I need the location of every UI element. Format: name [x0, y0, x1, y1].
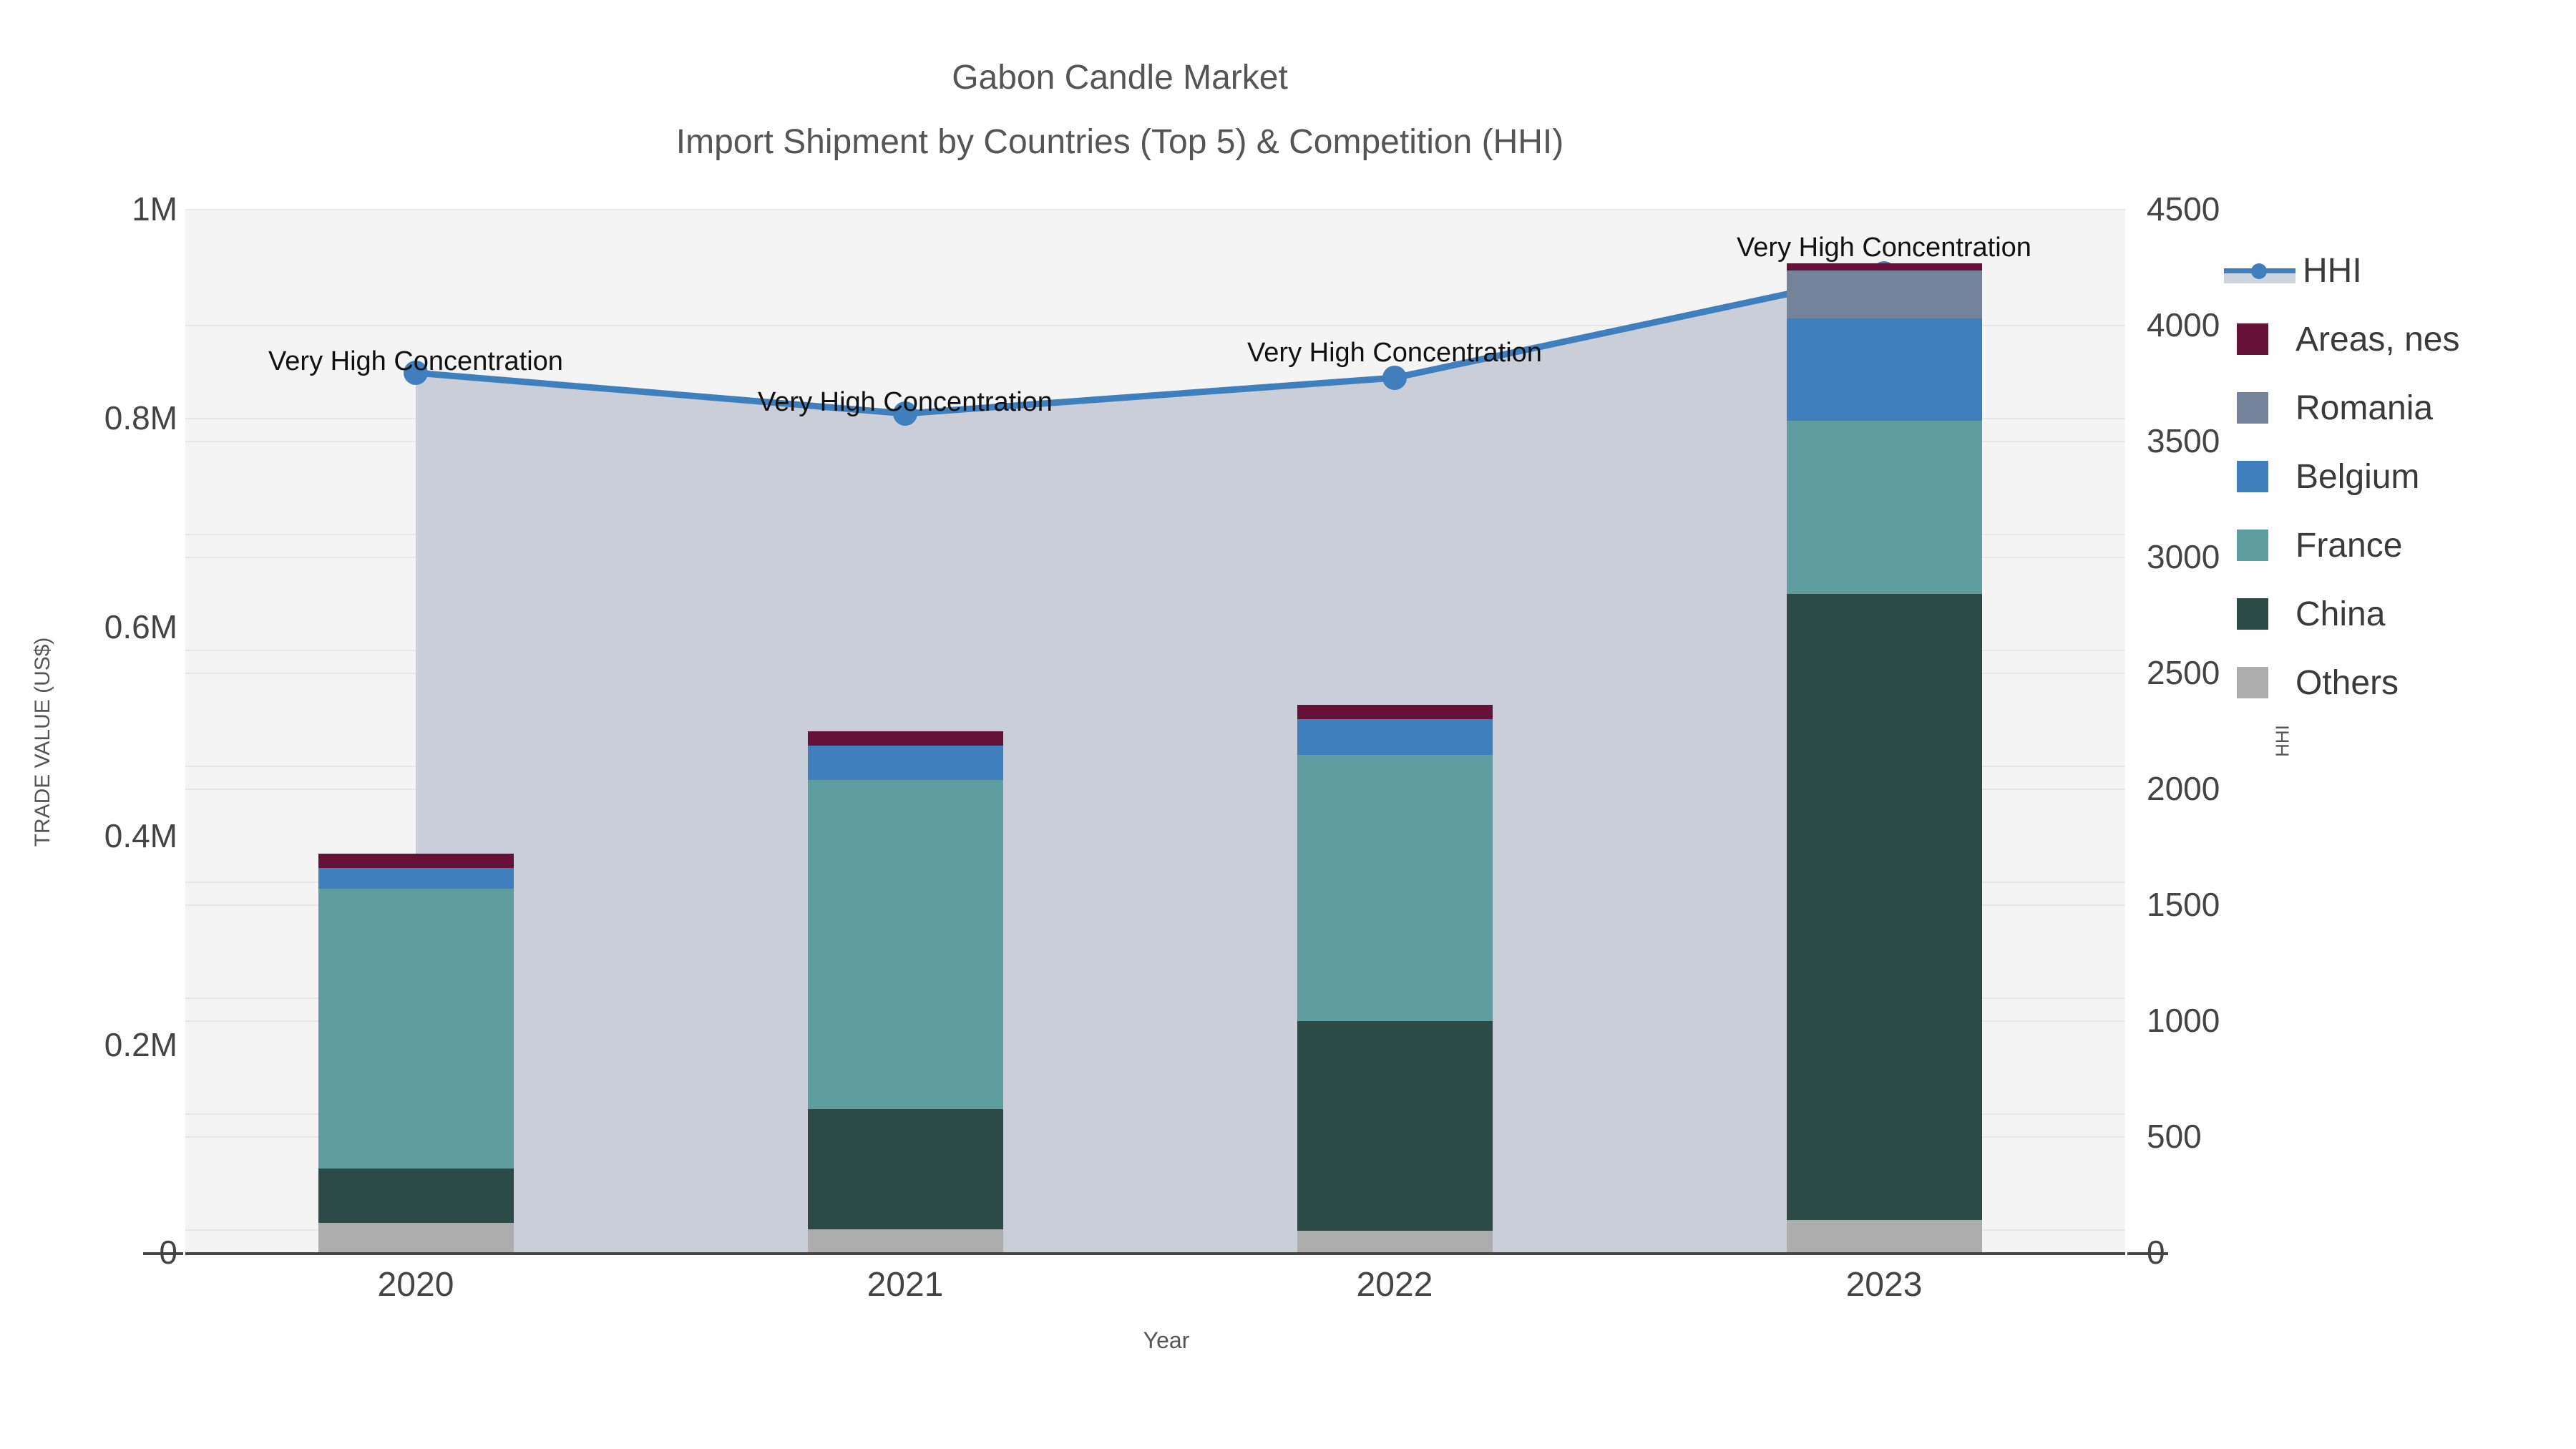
- xtick-2022: 2022: [1357, 1265, 1433, 1304]
- bar-segment-belgium[interactable]: [808, 746, 1003, 780]
- ytick-right-1500: 1500: [2147, 885, 2220, 924]
- color-swatch-icon: [2237, 667, 2268, 698]
- legend-label: Areas, nes: [2296, 320, 2459, 359]
- bar-2020[interactable]: [318, 854, 514, 1252]
- legend-item-others[interactable]: Others: [2224, 648, 2560, 717]
- legend: HHI Areas, nes Romania Belgium France Ch…: [2224, 236, 2560, 717]
- ytick-right-3000: 3000: [2147, 537, 2220, 576]
- bar-segment-belgium[interactable]: [318, 868, 514, 889]
- bar-2023[interactable]: [1787, 263, 1982, 1252]
- bar-segment-france[interactable]: [1787, 421, 1982, 594]
- ytick-right-2500: 2500: [2147, 653, 2220, 692]
- legend-item-belgium[interactable]: Belgium: [2224, 442, 2560, 511]
- bar-segment-france[interactable]: [808, 780, 1003, 1109]
- bar-segment-areas-nes[interactable]: [318, 854, 514, 868]
- chart-canvas: Gabon Candle Market Import Shipment by C…: [0, 0, 2576, 1449]
- legend-label: Belgium: [2296, 457, 2419, 497]
- bar-segment-china[interactable]: [1787, 594, 1982, 1220]
- bar-segment-others[interactable]: [1297, 1231, 1493, 1252]
- ytick-right-500: 500: [2147, 1117, 2202, 1156]
- legend-label: Romania: [2296, 389, 2433, 428]
- bar-2021[interactable]: [808, 731, 1003, 1252]
- color-swatch-icon: [2237, 392, 2268, 424]
- annotation-2023: Very High Concentration: [1737, 233, 2031, 263]
- x-axis-line: [143, 1252, 2168, 1255]
- annotation-2022: Very High Concentration: [1247, 338, 1542, 369]
- legend-label: Others: [2296, 663, 2399, 703]
- ytick-left-0_2m: 0.2M: [104, 1025, 177, 1064]
- hhi-marker-2022: [1382, 366, 1407, 390]
- annotation-2021: Very High Concentration: [758, 387, 1053, 418]
- legend-item-china[interactable]: China: [2224, 580, 2560, 648]
- legend-item-areas-nes[interactable]: Areas, nes: [2224, 305, 2560, 374]
- ytick-left-1m: 1M: [132, 190, 177, 228]
- bar-segment-others[interactable]: [318, 1223, 514, 1252]
- bar-2022[interactable]: [1297, 705, 1493, 1252]
- bar-segment-france[interactable]: [318, 889, 514, 1169]
- bar-segment-belgium[interactable]: [1787, 318, 1982, 421]
- bar-segment-others[interactable]: [1787, 1220, 1982, 1252]
- y-axis-label-left: TRADE VALUE (US$): [31, 456, 55, 1028]
- legend-item-hhi[interactable]: HHI: [2224, 236, 2560, 305]
- ytick-left-0_6m: 0.6M: [104, 608, 177, 646]
- y-axis-line-left: [183, 209, 185, 1255]
- legend-label: France: [2296, 526, 2402, 565]
- color-swatch-icon: [2237, 530, 2268, 561]
- ytick-left-0_8m: 0.8M: [104, 399, 177, 437]
- color-swatch-icon: [2237, 598, 2268, 630]
- bar-segment-china[interactable]: [1297, 1021, 1493, 1231]
- y-axis-line-right: [2125, 209, 2127, 1255]
- ytick-right-4000: 4000: [2147, 306, 2220, 344]
- bar-segment-belgium[interactable]: [1297, 719, 1493, 755]
- color-swatch-icon: [2237, 323, 2268, 355]
- hhi-area-fill: [416, 273, 1884, 1252]
- ytick-right-3500: 3500: [2147, 421, 2220, 460]
- bar-segment-romania[interactable]: [1787, 270, 1982, 318]
- ytick-left-0_4m: 0.4M: [104, 816, 177, 855]
- legend-label: China: [2296, 595, 2385, 634]
- line-marker-icon: [2224, 255, 2296, 286]
- bar-segment-areas-nes[interactable]: [808, 731, 1003, 746]
- ytick-right-0: 0: [2147, 1233, 2165, 1272]
- bar-segment-others[interactable]: [808, 1229, 1003, 1252]
- xtick-2023: 2023: [1846, 1265, 1923, 1304]
- chart-subtitle: Import Shipment by Countries (Top 5) & C…: [0, 120, 2240, 165]
- x-axis-label: Year: [0, 1327, 2333, 1354]
- ytick-right-1000: 1000: [2147, 1001, 2220, 1040]
- legend-label: HHI: [2303, 251, 2362, 291]
- ytick-right-4500: 4500: [2147, 190, 2220, 228]
- ytick-left-0: 0: [159, 1233, 177, 1272]
- bar-segment-areas-nes[interactable]: [1787, 263, 1982, 270]
- bar-segment-china[interactable]: [318, 1169, 514, 1223]
- bar-segment-areas-nes[interactable]: [1297, 705, 1493, 719]
- legend-item-france[interactable]: France: [2224, 511, 2560, 580]
- xtick-2020: 2020: [378, 1265, 454, 1304]
- ytick-right-2000: 2000: [2147, 769, 2220, 808]
- annotation-2020: Very High Concentration: [268, 346, 563, 377]
- legend-item-romania[interactable]: Romania: [2224, 374, 2560, 442]
- color-swatch-icon: [2237, 461, 2268, 492]
- bar-segment-china[interactable]: [808, 1109, 1003, 1229]
- bar-segment-france[interactable]: [1297, 755, 1493, 1021]
- chart-title-block: Gabon Candle Market Import Shipment by C…: [0, 56, 2240, 165]
- chart-title: Gabon Candle Market: [0, 56, 2240, 100]
- xtick-2021: 2021: [867, 1265, 944, 1304]
